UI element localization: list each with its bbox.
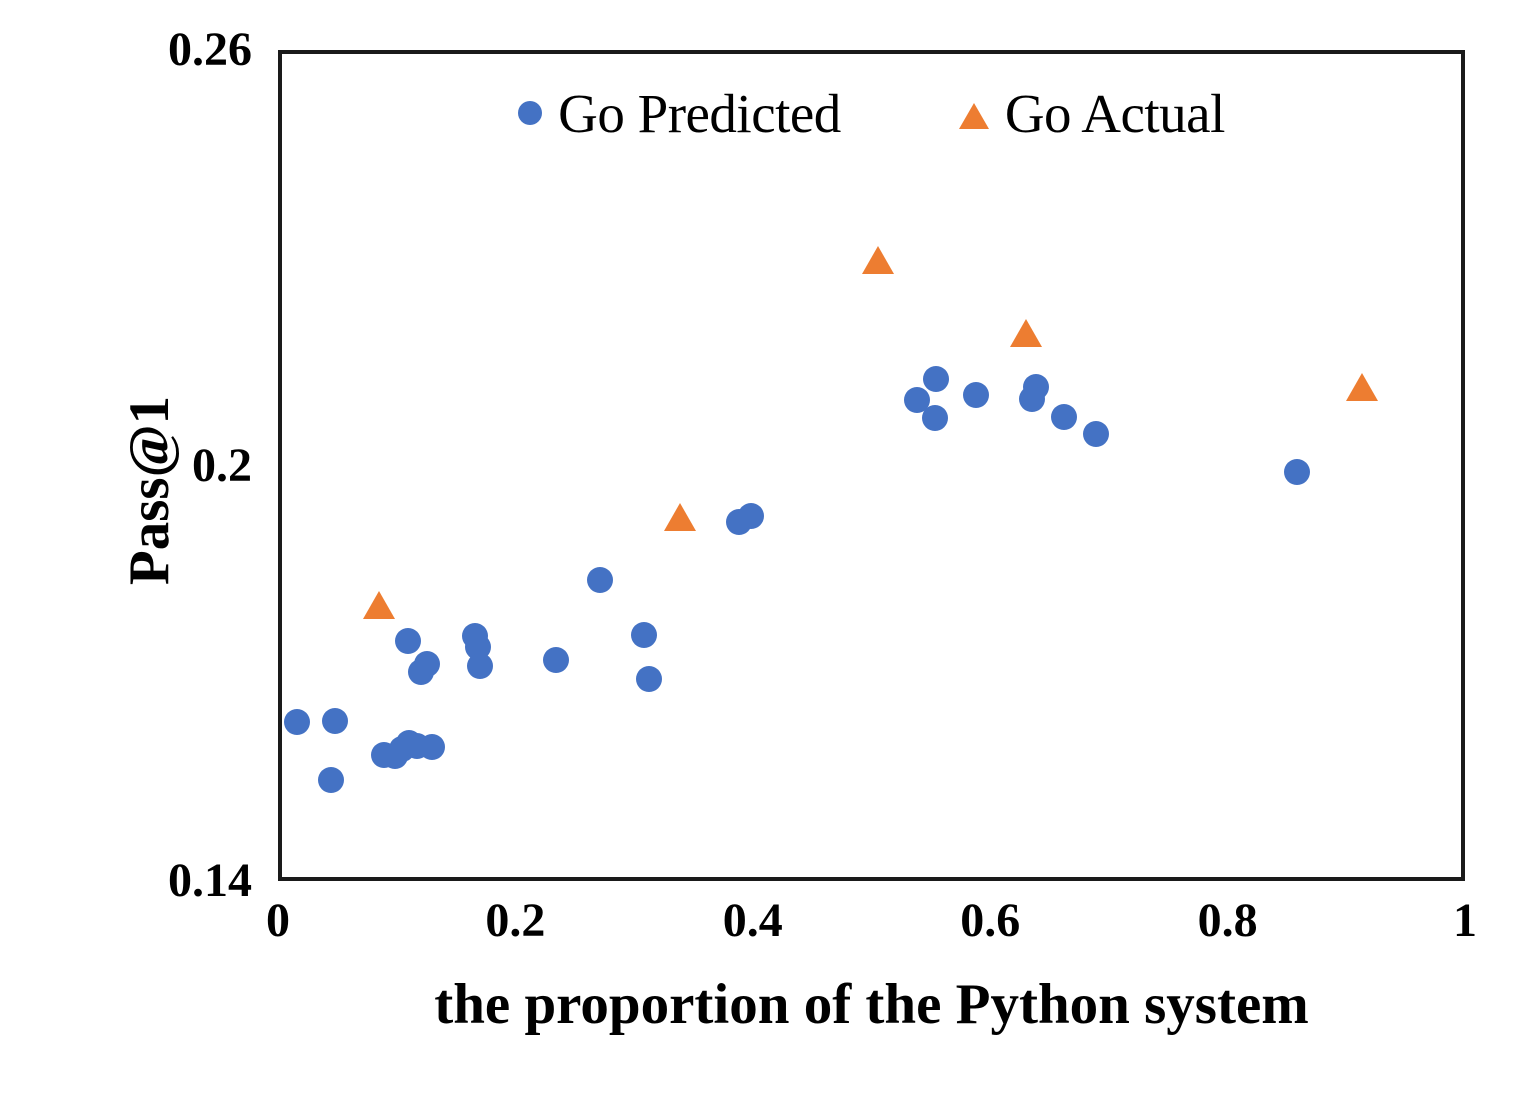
scatter-chart-figure: Pass@1 Go PredictedGo Actual 0.140.20.26… xyxy=(0,0,1522,1108)
y-tick-label: 0.14 xyxy=(168,857,252,905)
x-tick-label: 0.4 xyxy=(723,897,783,945)
y-tick-label: 0.2 xyxy=(192,442,252,490)
data-point-go-predicted xyxy=(636,666,662,692)
y-axis-title-text: Pass@1 xyxy=(121,395,178,584)
data-point-go-predicted xyxy=(467,653,493,679)
data-point-go-predicted xyxy=(322,708,348,734)
data-point-go-predicted xyxy=(419,734,445,760)
x-tick-label: 1 xyxy=(1453,897,1477,945)
data-point-go-predicted xyxy=(1083,421,1109,447)
plot-area xyxy=(278,50,1465,881)
x-tick-label: 0.2 xyxy=(485,897,545,945)
data-point-go-predicted xyxy=(284,709,310,735)
data-point-go-predicted xyxy=(1051,404,1077,430)
data-point-go-predicted xyxy=(738,503,764,529)
data-point-go-predicted xyxy=(1019,386,1045,412)
data-points-layer xyxy=(282,54,1461,877)
data-point-go-predicted xyxy=(1284,459,1310,485)
data-point-go-actual xyxy=(664,503,696,531)
data-point-go-actual xyxy=(862,246,894,274)
x-tick-label: 0.8 xyxy=(1198,897,1258,945)
data-point-go-actual xyxy=(1346,373,1378,401)
data-point-go-predicted xyxy=(318,767,344,793)
data-point-go-predicted xyxy=(414,651,440,677)
data-point-go-predicted xyxy=(587,567,613,593)
data-point-go-actual xyxy=(1010,319,1042,347)
y-tick-label: 0.26 xyxy=(168,26,252,74)
data-point-go-actual xyxy=(363,591,395,619)
data-point-go-predicted xyxy=(922,405,948,431)
x-axis-title: the proportion of the Python system xyxy=(278,975,1465,1035)
x-tick-label: 0.6 xyxy=(960,897,1020,945)
data-point-go-predicted xyxy=(631,622,657,648)
data-point-go-predicted xyxy=(963,382,989,408)
data-point-go-predicted xyxy=(923,366,949,392)
data-point-go-predicted xyxy=(395,628,421,654)
x-tick-label: 0 xyxy=(266,897,290,945)
y-axis-title: Pass@1 xyxy=(0,300,300,680)
data-point-go-predicted xyxy=(543,647,569,673)
